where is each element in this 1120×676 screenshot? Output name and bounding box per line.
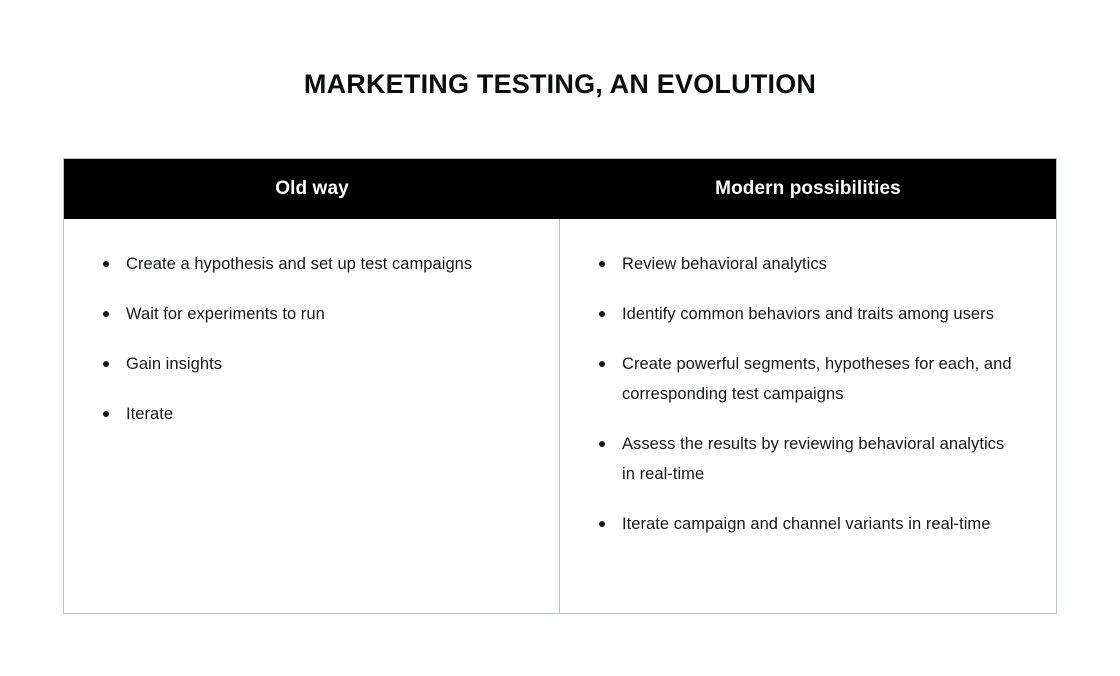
bullet-dot-icon [103, 311, 109, 317]
list-item: Create powerful segments, hypotheses for… [598, 349, 1012, 409]
bullet-dot-icon [103, 411, 109, 417]
column-cell-modern-possibilities: Review behavioral analytics Identify com… [560, 219, 1056, 613]
list-item: Create a hypothesis and set up test camp… [102, 249, 541, 279]
bullet-dot-icon [599, 441, 605, 447]
bullet-dot-icon [103, 361, 109, 367]
bullet-dot-icon [103, 261, 109, 267]
list-item: Review behavioral analytics [598, 249, 1012, 279]
list-item-label: Iterate [126, 405, 173, 423]
list-item: Iterate [102, 399, 541, 429]
bullet-dot-icon [599, 261, 605, 267]
list-item-label: Gain insights [126, 355, 222, 373]
list-item: Gain insights [102, 349, 541, 379]
list-item-label: Create a hypothesis and set up test camp… [126, 255, 472, 273]
list-item-label: Assess the results by reviewing behavior… [622, 435, 1004, 483]
list-item: Assess the results by reviewing behavior… [598, 429, 1012, 489]
column-header-modern-possibilities: Modern possibilities [560, 159, 1056, 219]
bullet-dot-icon [599, 311, 605, 317]
bullet-list-old-way: Create a hypothesis and set up test camp… [102, 249, 541, 429]
table-header-row: Old way Modern possibilities [64, 159, 1056, 219]
list-item-label: Iterate campaign and channel variants in… [622, 515, 990, 533]
column-header-old-way: Old way [64, 159, 560, 219]
list-item: Iterate campaign and channel variants in… [598, 509, 1012, 539]
list-item: Wait for experiments to run [102, 299, 541, 329]
table-body-row: Create a hypothesis and set up test camp… [64, 219, 1056, 613]
bullet-list-modern-possibilities: Review behavioral analytics Identify com… [598, 249, 1012, 539]
bullet-dot-icon [599, 361, 605, 367]
bullet-dot-icon [599, 521, 605, 527]
list-item: Identify common behaviors and traits amo… [598, 299, 1012, 329]
page-title: MARKETING TESTING, AN EVOLUTION [0, 68, 1120, 100]
list-item-label: Create powerful segments, hypotheses for… [622, 355, 1012, 403]
list-item-label: Identify common behaviors and traits amo… [622, 305, 994, 323]
list-item-label: Review behavioral analytics [622, 255, 827, 273]
list-item-label: Wait for experiments to run [126, 305, 325, 323]
slide-canvas: MARKETING TESTING, AN EVOLUTION Old way … [0, 0, 1120, 676]
comparison-table: Old way Modern possibilities Create a hy… [63, 158, 1057, 614]
column-cell-old-way: Create a hypothesis and set up test camp… [64, 219, 560, 613]
